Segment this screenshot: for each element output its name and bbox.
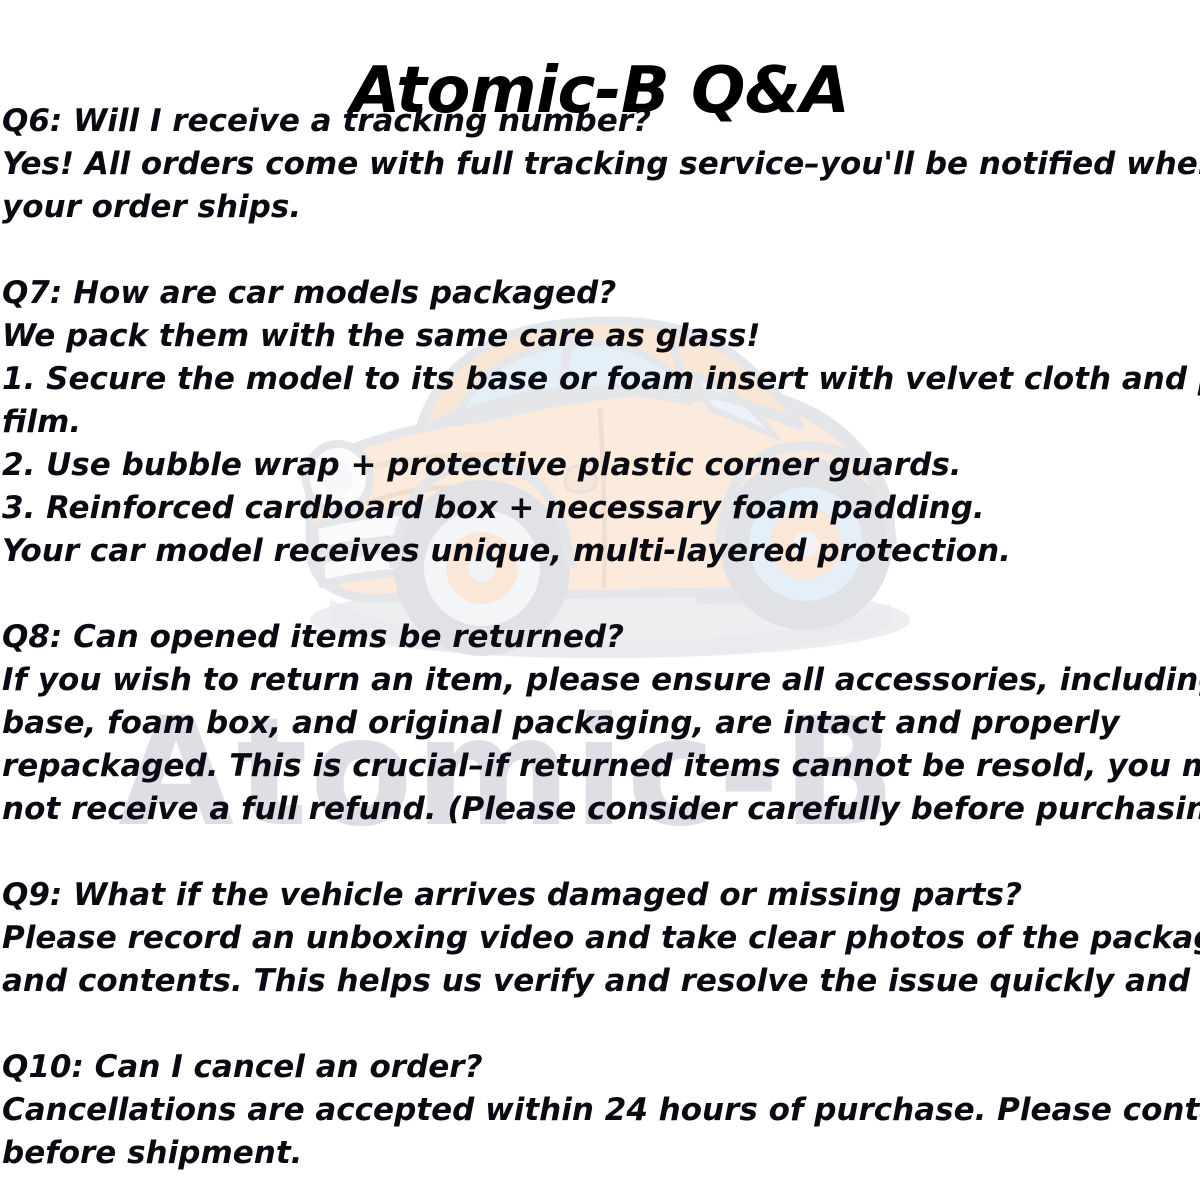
qa-block-q7: Q7: How are car models packaged?We pack …	[2, 272, 1200, 573]
qa-block-q6: Q6: Will I receive a tracking number?Yes…	[2, 100, 1200, 229]
qa-answer-line-q7-2: 1. Secure the model to its base or foam …	[2, 358, 1200, 401]
qa-block-q10: Q10: Can I cancel an order?Cancellations…	[2, 1046, 1200, 1175]
qa-answer-line-q7-1: We pack them with the same care as glass…	[2, 315, 1200, 358]
qa-answer-line-q8-4: not receive a full refund. (Please consi…	[2, 788, 1200, 831]
qa-answer-line-q8-1: If you wish to return an item, please en…	[2, 659, 1200, 702]
qa-answer-line-q6-1: Yes! All orders come with full tracking …	[2, 143, 1200, 186]
qa-question-q6: Q6: Will I receive a tracking number?	[2, 100, 1200, 143]
qa-question-q7: Q7: How are car models packaged?	[2, 272, 1200, 315]
faq-page: Atomic-B	[0, 0, 1200, 1200]
qa-answer-line-q8-2: base, foam box, and original packaging, …	[2, 702, 1200, 745]
qa-block-spacer	[2, 229, 1200, 272]
qa-answer-line-q7-5: 3. Reinforced cardboard box + necessary …	[2, 487, 1200, 530]
qa-answer-line-q9-1: Please record an unboxing video and take…	[2, 917, 1200, 960]
qa-question-q10: Q10: Can I cancel an order?	[2, 1046, 1200, 1089]
qa-answer-line-q9-2: and contents. This helps us verify and r…	[2, 960, 1200, 1003]
qa-answer-line-q10-1: Cancellations are accepted within 24 hou…	[2, 1089, 1200, 1132]
qa-question-q8: Q8: Can opened items be returned?	[2, 616, 1200, 659]
qa-block-q8: Q8: Can opened items be returned?If you …	[2, 616, 1200, 831]
qa-block-q9: Q9: What if the vehicle arrives damaged …	[2, 874, 1200, 1003]
qa-block-spacer	[2, 1003, 1200, 1046]
qa-list: Q6: Will I receive a tracking number?Yes…	[2, 100, 1200, 1175]
qa-block-spacer	[2, 573, 1200, 616]
qa-answer-line-q10-2: before shipment.	[2, 1132, 1200, 1175]
qa-answer-line-q7-4: 2. Use bubble wrap + protective plastic …	[2, 444, 1200, 487]
qa-answer-line-q6-2: your order ships.	[2, 186, 1200, 229]
qa-answer-line-q7-6: Your car model receives unique, multi-la…	[2, 530, 1200, 573]
qa-answer-line-q8-3: repackaged. This is crucial–if returned …	[2, 745, 1200, 788]
content-layer: Atomic-B Q&A Q6: Will I receive a tracki…	[0, 0, 1200, 1200]
qa-answer-line-q7-3: film.	[2, 401, 1200, 444]
qa-block-spacer	[2, 831, 1200, 874]
qa-question-q9: Q9: What if the vehicle arrives damaged …	[2, 874, 1200, 917]
